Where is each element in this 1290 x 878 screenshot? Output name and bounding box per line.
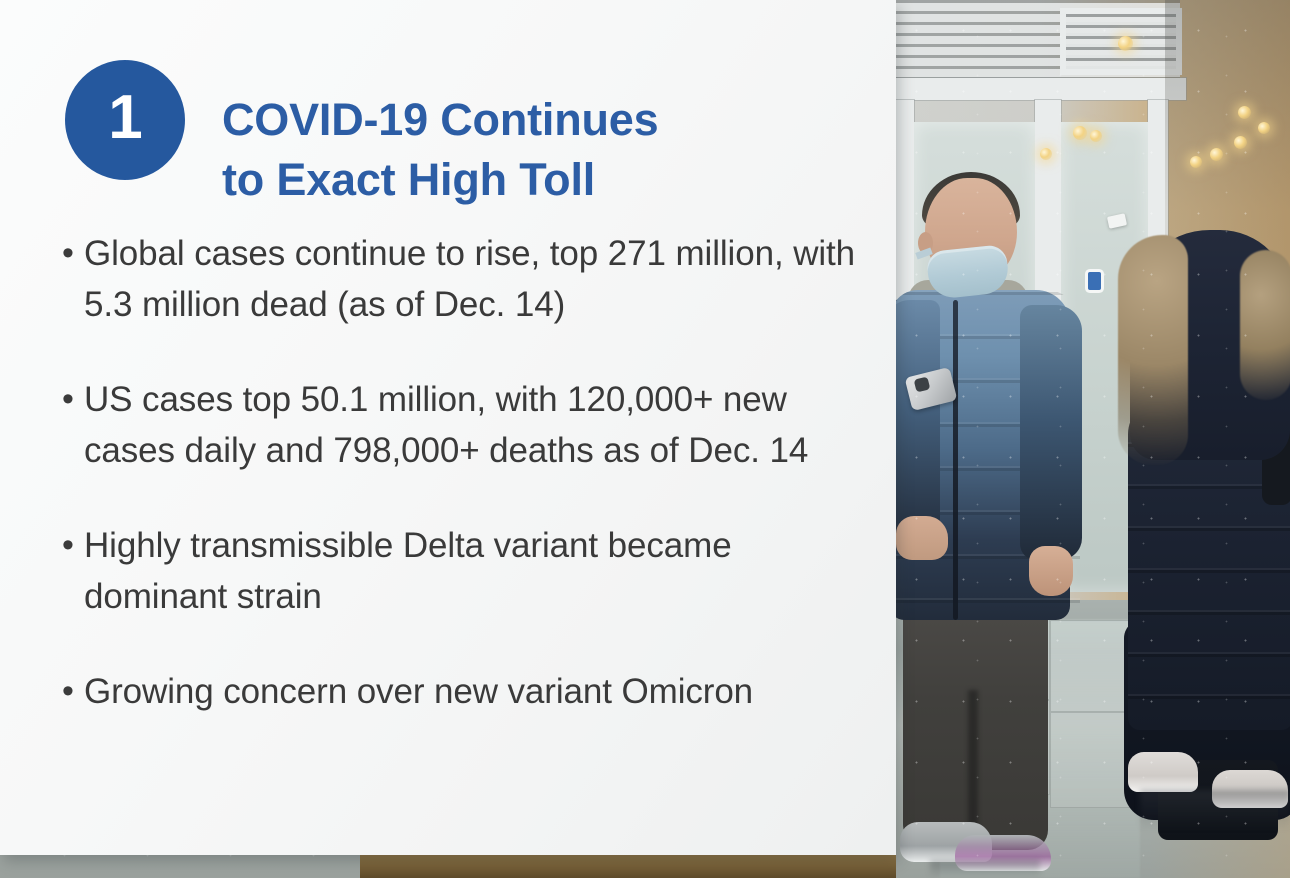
page-title: COVID-19 Continues to Exact High Toll [222,90,842,209]
bullet-marker-icon: • [62,666,84,717]
content-panel: 1 COVID-19 Continues to Exact High Toll … [0,0,896,855]
page-title-line-2: to Exact High Toll [222,154,595,205]
slide-canvas: 1 COVID-19 Continues to Exact High Toll … [0,0,1290,878]
list-item: • Growing concern over new variant Omicr… [62,666,872,717]
list-item-text: Global cases continue to rise, top 271 m… [84,228,872,330]
wooden-kerb-strip [360,855,896,878]
page-title-line-1: COVID-19 Continues [222,94,658,145]
list-item-text: Growing concern over new variant Omicron [84,666,872,717]
bullet-marker-icon: • [62,520,84,571]
bullet-list: • Global cases continue to rise, top 271… [62,228,872,717]
bullet-marker-icon: • [62,228,84,279]
bullet-marker-icon: • [62,374,84,425]
slide-number-label: 1 [108,87,141,153]
list-item-text: Highly transmissible Delta variant becam… [84,520,872,622]
list-item: • Global cases continue to rise, top 271… [62,228,872,330]
slide-number-badge: 1 [65,60,185,180]
list-item: • Highly transmissible Delta variant bec… [62,520,872,622]
list-item-text: US cases top 50.1 million, with 120,000+… [84,374,872,476]
list-item: • US cases top 50.1 million, with 120,00… [62,374,872,476]
